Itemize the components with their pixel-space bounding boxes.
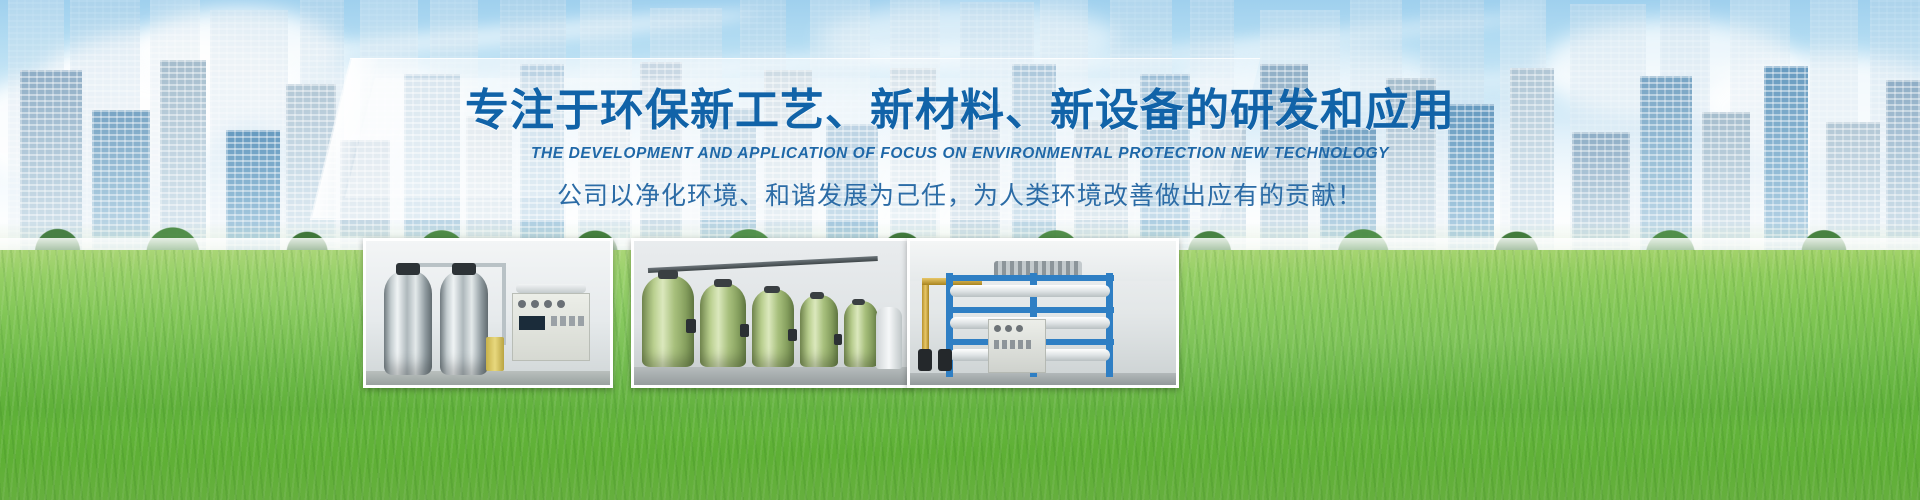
banner-tagline: 公司以净化环境、和谐发展为己任，为人类环境改善做出应有的贡献！	[0, 176, 1920, 212]
banner-subline-english: THE DEVELOPMENT AND APPLICATION OF FOCUS…	[0, 145, 1920, 163]
control-panel	[988, 319, 1046, 373]
control-panel	[512, 293, 590, 361]
steel-tank	[384, 271, 432, 375]
header-pipe	[648, 256, 878, 273]
tank-valve-head	[452, 263, 476, 275]
equipment-photo-strip	[363, 238, 1173, 384]
banner-text-block: 专注于环保新工艺、新材料、新设备的研发和应用 THE DEVELOPMENT A…	[0, 86, 1920, 212]
valve	[686, 319, 696, 333]
photo-green-frp-filter-tank-row[interactable]	[631, 238, 911, 388]
button-row	[551, 316, 584, 326]
photo-3-scene	[910, 241, 1176, 385]
pipe	[502, 263, 506, 345]
photo-1-scene	[366, 241, 610, 385]
grass-shadow	[0, 430, 1920, 500]
pump	[938, 349, 952, 371]
gauges	[518, 300, 565, 308]
tank-valve-head	[810, 292, 824, 299]
tank-valve-head	[396, 263, 420, 275]
display-screen	[519, 316, 545, 330]
tank-valve-head	[714, 279, 732, 287]
valve	[740, 324, 749, 337]
pump	[918, 349, 932, 371]
tank-valve-head	[764, 286, 780, 293]
photo-reverse-osmosis-membrane-racks[interactable]	[907, 238, 1179, 388]
membrane-vessel	[516, 284, 586, 293]
frp-tank	[844, 301, 878, 367]
tank-valve-head	[852, 299, 865, 305]
white-storage-tank	[876, 307, 902, 369]
photo-stainless-steel-water-treatment-tanks[interactable]	[363, 238, 613, 388]
floor	[634, 367, 908, 385]
yellow-pipe	[922, 279, 929, 349]
switch-row	[994, 340, 1031, 349]
valve	[834, 334, 842, 345]
frp-tank	[752, 289, 794, 367]
photo-2-scene	[634, 241, 908, 385]
ro-membrane-vessel	[950, 285, 1110, 297]
hero-banner: 专注于环保新工艺、新材料、新设备的研发和应用 THE DEVELOPMENT A…	[0, 0, 1920, 500]
banner-headline: 专注于环保新工艺、新材料、新设备的研发和应用	[0, 86, 1920, 137]
tank-valve-head	[658, 270, 678, 279]
frp-tank	[800, 295, 838, 367]
gauges	[994, 325, 1023, 332]
valve	[788, 329, 797, 341]
steel-tank	[440, 271, 488, 375]
yellow-brine-drum	[486, 337, 504, 371]
